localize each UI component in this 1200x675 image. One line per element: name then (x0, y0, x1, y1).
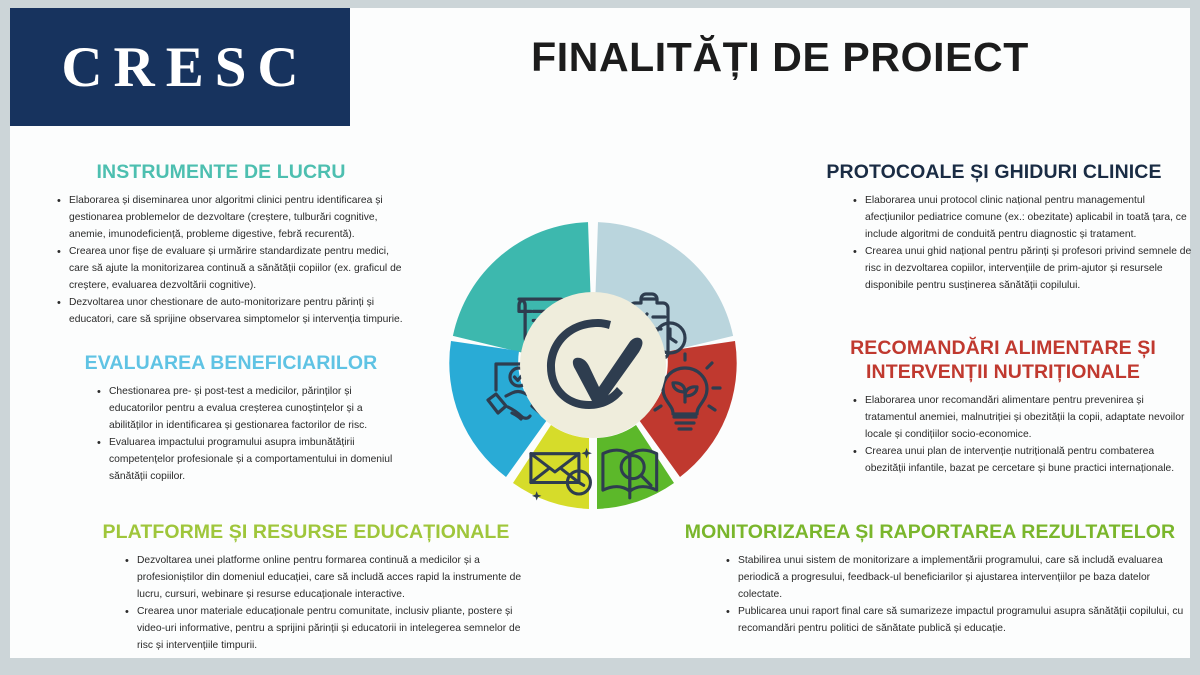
page-title: FINALITĂȚI DE PROIECT (350, 34, 1200, 81)
section-bullet-list: Elaborarea unui protocol clinic național… (794, 193, 1194, 294)
list-item: Elaborarea și diseminarea unor algoritmi… (56, 193, 404, 243)
wheel-svg: .ico { fill:none; stroke:#2e3d4f; stroke… (393, 200, 793, 530)
wheel-center (520, 292, 666, 438)
section-bullet-list: Stabilirea unui sistem de monitorizare a… (670, 553, 1190, 637)
poster-card: CRESC FINALITĂȚI DE PROIECT INSTRUMENTE … (10, 8, 1190, 658)
section-recomandari-alimentare: RECOMANDĂRI ALIMENTARE ȘI INTERVENȚII NU… (810, 336, 1196, 479)
section-protocoale-si-ghiduri-clinice: PROTOCOALE ȘI GHIDURI CLINICE Elaborarea… (794, 160, 1194, 295)
list-item: Chestionarea pre- și post-test a medicil… (96, 384, 402, 434)
section-monitorizarea-si-raportarea: MONITORIZAREA ȘI RAPORTAREA REZULTATELOR… (670, 520, 1190, 639)
central-wheel-diagram: .ico { fill:none; stroke:#2e3d4f; stroke… (393, 200, 793, 530)
section-heading: PROTOCOALE ȘI GHIDURI CLINICE (794, 160, 1194, 184)
section-bullet-list: Elaborarea și diseminarea unor algoritmi… (38, 193, 404, 328)
section-instrumente-de-lucru: INSTRUMENTE DE LUCRU Elaborarea și disem… (38, 160, 404, 330)
section-bullet-list: Elaborarea unor recomandări alimentare p… (810, 393, 1196, 477)
list-item: Crearea unor fișe de evaluare și urmărir… (56, 244, 404, 294)
list-item: Elaborarea unor recomandări alimentare p… (852, 393, 1196, 443)
center-circle (520, 292, 666, 438)
section-evaluarea-beneficiarilor: EVALUAREA BENEFICIARILOR Chestionarea pr… (60, 351, 402, 486)
section-heading: RECOMANDĂRI ALIMENTARE ȘI INTERVENȚII NU… (810, 336, 1196, 384)
list-item: Crearea unui ghid național pentru părinț… (852, 244, 1194, 294)
list-item: Stabilirea unui sistem de monitorizare a… (725, 553, 1190, 603)
section-heading: EVALUAREA BENEFICIARILOR (60, 351, 402, 375)
list-item: Evaluarea impactului programului asupra … (96, 435, 402, 485)
infographic-poster: CRESC FINALITĂȚI DE PROIECT INSTRUMENTE … (0, 0, 1200, 675)
brand-logo-text: CRESC (50, 39, 309, 96)
list-item: Dezvoltarea unor chestionare de auto-mon… (56, 295, 404, 328)
section-heading: INSTRUMENTE DE LUCRU (38, 160, 404, 184)
list-item: Publicarea unui raport final care să sum… (725, 604, 1190, 637)
section-bullet-list: Chestionarea pre- și post-test a medicil… (60, 384, 402, 485)
section-platforme-si-resurse-educationale: PLATFORME ȘI RESURSE EDUCAȚIONALE Dezvol… (82, 520, 530, 655)
section-bullet-list: Dezvoltarea unei platforme online pentru… (82, 553, 530, 654)
list-item: Elaborarea unui protocol clinic național… (852, 193, 1194, 243)
list-item: Dezvoltarea unei platforme online pentru… (124, 553, 530, 603)
brand-logo-block: CRESC (10, 8, 350, 126)
list-item: Crearea unui plan de intervenție nutriți… (852, 444, 1196, 477)
list-item: Crearea unor materiale educaționale pent… (124, 604, 530, 654)
